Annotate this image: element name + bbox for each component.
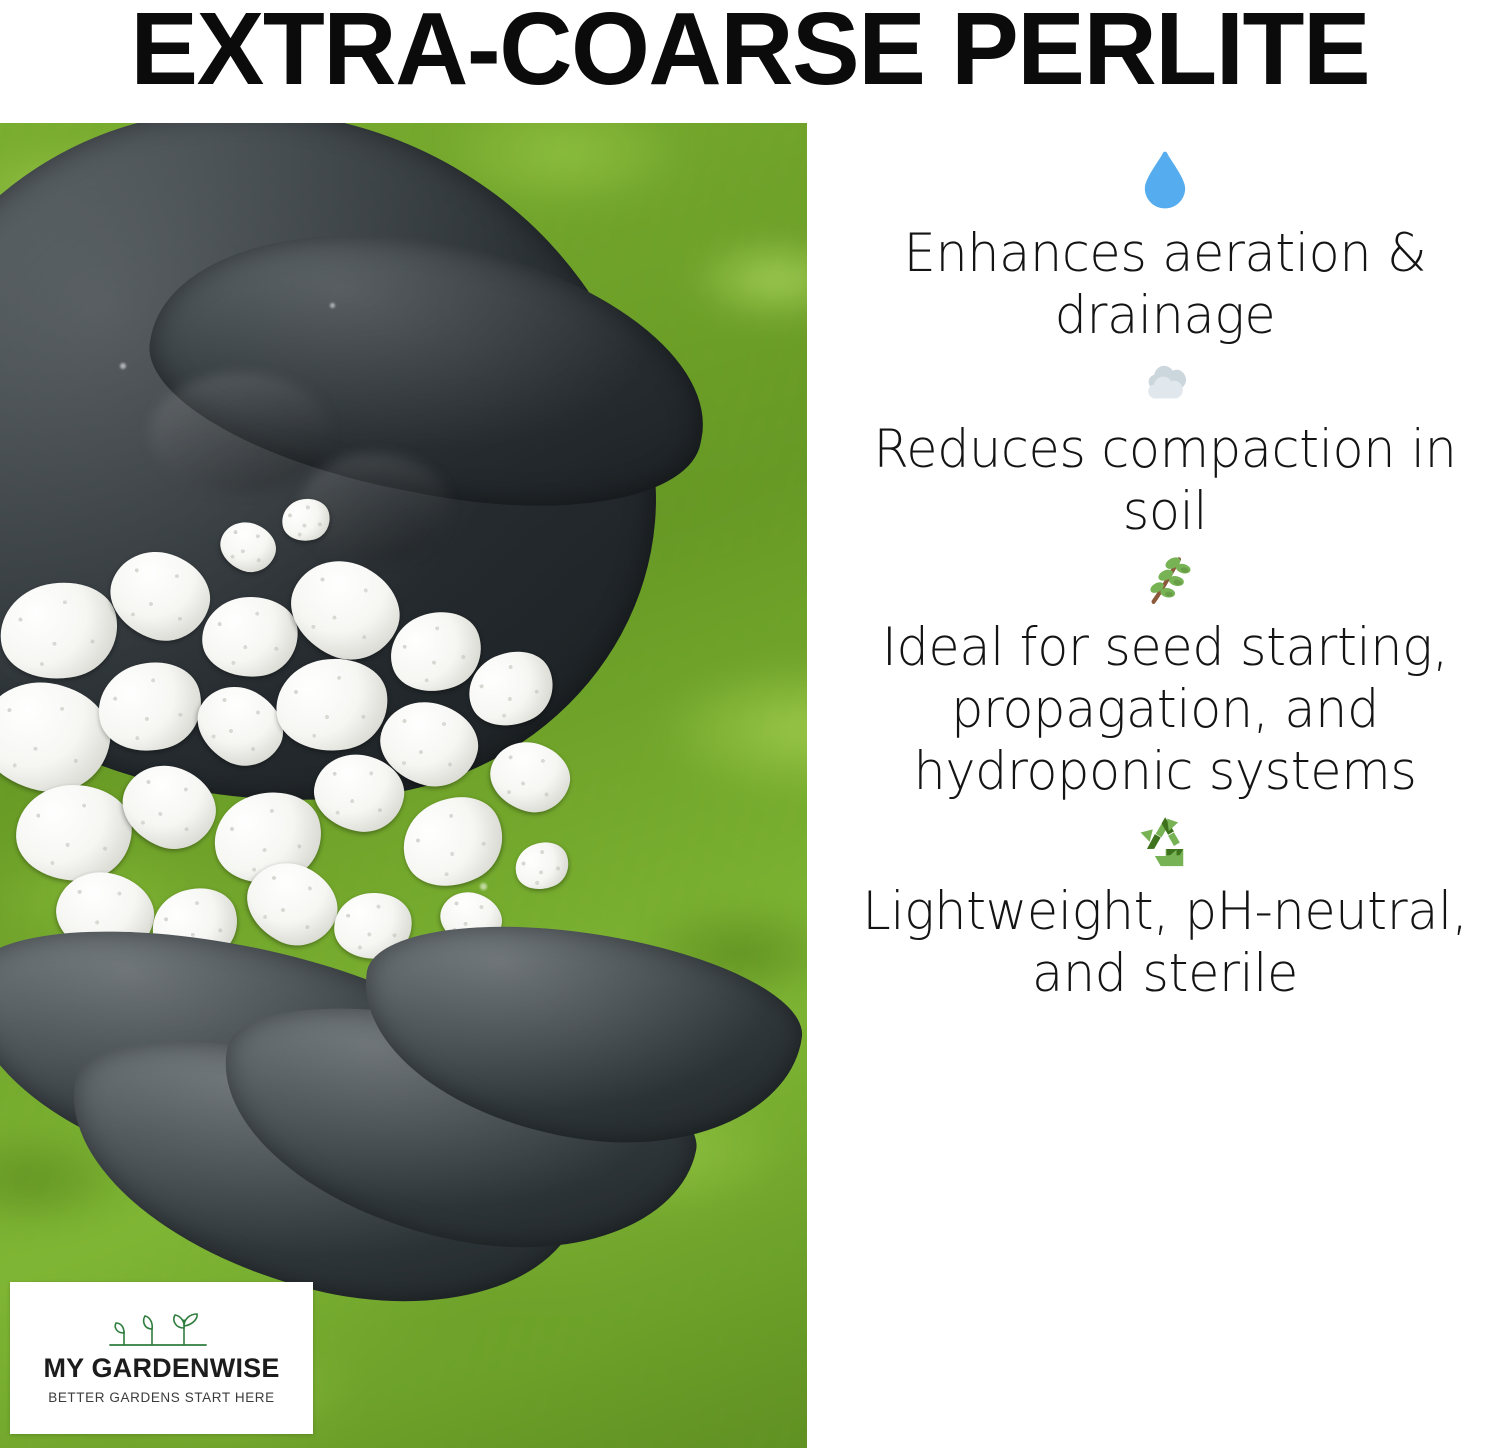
feature-item-seed-starting: Ideal for seed starting, propagation, an… — [830, 543, 1500, 803]
feature-text: Reduces compaction in soil — [843, 419, 1486, 543]
sprout-logo-icon — [102, 1311, 222, 1351]
feature-item-lightweight: Lightweight, pH-neutral, and sterile — [830, 803, 1500, 1005]
page-title: EXTRA-COARSE PERLITE — [131, 0, 1370, 97]
gloved-fingers — [0, 123, 807, 1448]
feature-text: Enhances aeration & drainage — [843, 223, 1486, 347]
feature-item-drainage: Enhances aeration & drainage — [830, 147, 1500, 347]
title-bar: EXTRA-COARSE PERLITE — [0, 0, 1500, 120]
recycle-icon — [1132, 811, 1198, 873]
brand-name: MY GARDENWISE — [43, 1355, 279, 1382]
feature-text: Ideal for seed starting, propagation, an… — [843, 617, 1486, 803]
feature-list: Enhances aeration & drainage Reduces com… — [830, 123, 1500, 1448]
feature-text: Lightweight, pH-neutral, and sterile — [843, 881, 1486, 1005]
feature-item-compaction: Reduces compaction in soil — [830, 347, 1500, 543]
product-photo: MY GARDENWISE BETTER GARDENS START HERE — [0, 123, 807, 1448]
brand-logo: MY GARDENWISE BETTER GARDENS START HERE — [10, 1282, 313, 1434]
herb-sprig-icon — [1132, 549, 1198, 611]
brand-tagline: BETTER GARDENS START HERE — [48, 1391, 275, 1405]
water-droplet-icon — [1132, 147, 1198, 213]
cloud-icon — [1132, 355, 1198, 411]
